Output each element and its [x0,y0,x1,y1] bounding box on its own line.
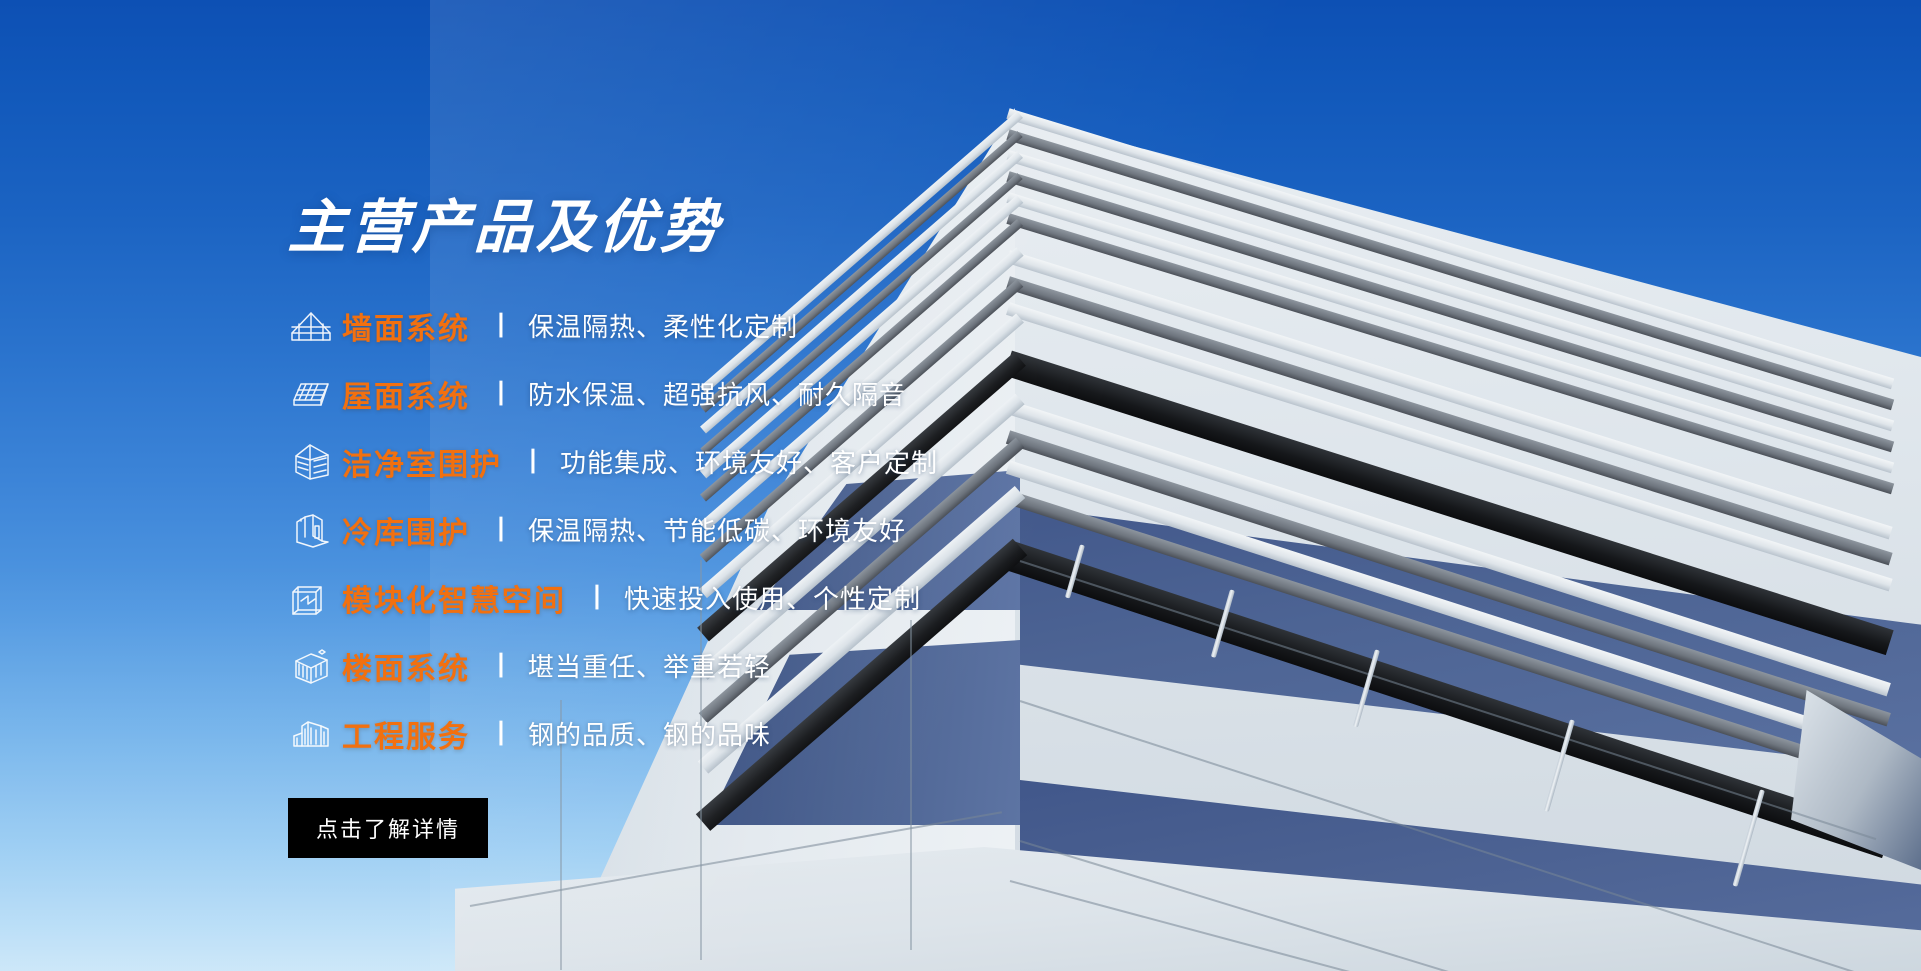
list-item[interactable]: 洁净室围护丨功能集成、环境友好、客户定制 [288,428,1388,496]
cold-storage-enclosure-icon [288,507,342,553]
floor-system-icon [288,643,342,689]
product-advantage-text: 钢的品质、钢的品味 [528,715,771,752]
list-item[interactable]: 屋面系统丨防水保温、超强抗风、耐久隔音 [288,360,1388,428]
product-name: 楼面系统 [342,644,470,688]
separator-bar: 丨 [488,721,514,747]
separator-bar: 丨 [488,313,514,339]
product-advantage-text: 防水保温、超强抗风、耐久隔音 [528,375,906,412]
product-name: 冷库围护 [342,508,470,552]
separator-bar: 丨 [488,517,514,543]
separator-bar: 丨 [584,585,610,611]
list-item[interactable]: 楼面系统丨堪当重任、举重若轻 [288,632,1388,700]
learn-more-button[interactable]: 点击了解详情 [288,798,488,858]
product-advantage-text: 保温隔热、柔性化定制 [528,307,798,344]
page-title: 主营产品及优势 [287,196,1389,260]
product-name: 洁净室围护 [342,440,502,484]
list-item[interactable]: 模块化智慧空间丨快速投入使用、个性定制 [288,564,1388,632]
product-advantage-text: 保温隔热、节能低碳、环境友好 [528,511,906,548]
list-item[interactable]: 工程服务丨钢的品质、钢的品味 [288,700,1388,768]
separator-bar: 丨 [488,381,514,407]
list-item[interactable]: 冷库围护丨保温隔热、节能低碳、环境友好 [288,496,1388,564]
banner-content: 主营产品及优势 墙面系统丨保温隔热、柔性化定制 屋面系统丨防水保温、超强抗风、耐… [288,196,1388,858]
product-advantage-text: 快速投入使用、个性定制 [624,579,921,616]
roof-system-icon [288,371,342,417]
product-name: 屋面系统 [342,372,470,416]
list-item[interactable]: 墙面系统丨保温隔热、柔性化定制 [288,292,1388,360]
separator-bar: 丨 [488,653,514,679]
product-advantage-list: 墙面系统丨保温隔热、柔性化定制 屋面系统丨防水保温、超强抗风、耐久隔音 洁净室围… [288,292,1388,768]
product-name: 工程服务 [342,712,470,756]
modular-smart-space-icon [288,575,342,621]
cleanroom-enclosure-icon [288,439,342,485]
product-name: 墙面系统 [342,304,470,348]
product-advantage-text: 功能集成、环境友好、客户定制 [560,443,938,480]
product-advantage-text: 堪当重任、举重若轻 [528,647,771,684]
product-advantages-banner: 主营产品及优势 墙面系统丨保温隔热、柔性化定制 屋面系统丨防水保温、超强抗风、耐… [0,0,1921,971]
engineering-service-icon [288,711,342,757]
wall-system-icon [288,303,342,349]
product-name: 模块化智慧空间 [342,576,566,620]
separator-bar: 丨 [520,449,546,475]
